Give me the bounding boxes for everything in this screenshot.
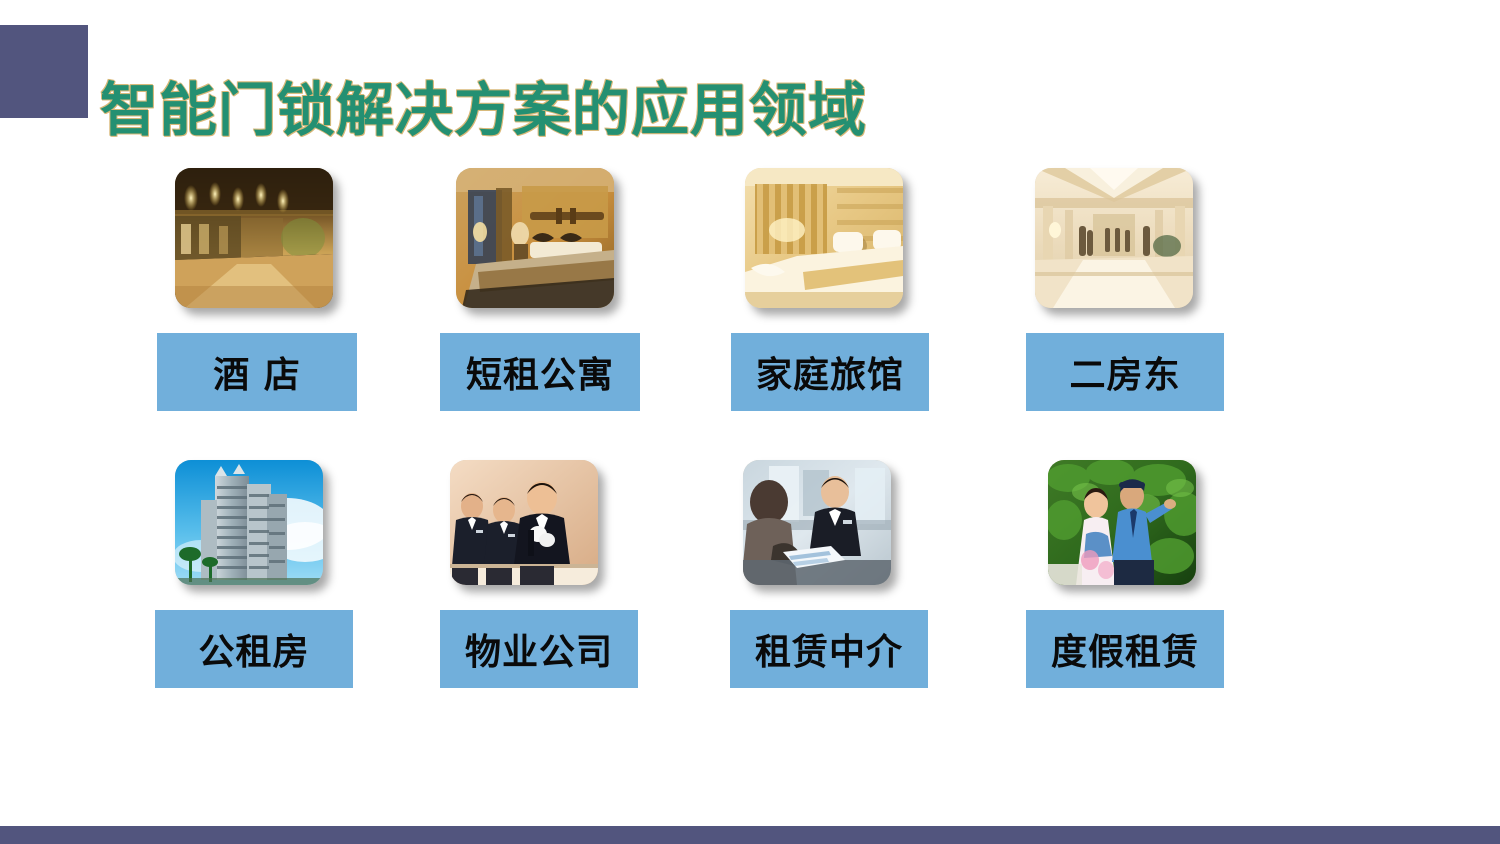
domain-label[interactable]: 酒 店 <box>157 333 357 411</box>
twin-bed-room-photo <box>745 168 903 308</box>
footer-bar <box>0 826 1500 844</box>
domain-label[interactable]: 家庭旅馆 <box>731 333 929 411</box>
domain-label[interactable]: 租赁中介 <box>730 610 928 688</box>
slide-canvas: 智能门锁解决方案的应用领域 <box>0 0 1500 844</box>
domain-label[interactable]: 二房东 <box>1026 333 1224 411</box>
hotel-lobby-photo <box>175 168 333 308</box>
grand-lobby-photo <box>1035 168 1193 308</box>
application-domains-grid: 酒 店 <box>0 0 1500 844</box>
property-staff-photo <box>450 460 598 585</box>
apartment-tower-photo <box>175 460 323 585</box>
domain-label[interactable]: 公租房 <box>155 610 353 688</box>
domain-label[interactable]: 短租公寓 <box>440 333 640 411</box>
domain-label[interactable]: 物业公司 <box>440 610 638 688</box>
reception-agent-photo <box>743 460 891 585</box>
vacation-couple-photo <box>1048 460 1196 585</box>
hotel-bedroom-photo <box>456 168 614 308</box>
domain-label[interactable]: 度假租赁 <box>1026 610 1224 688</box>
